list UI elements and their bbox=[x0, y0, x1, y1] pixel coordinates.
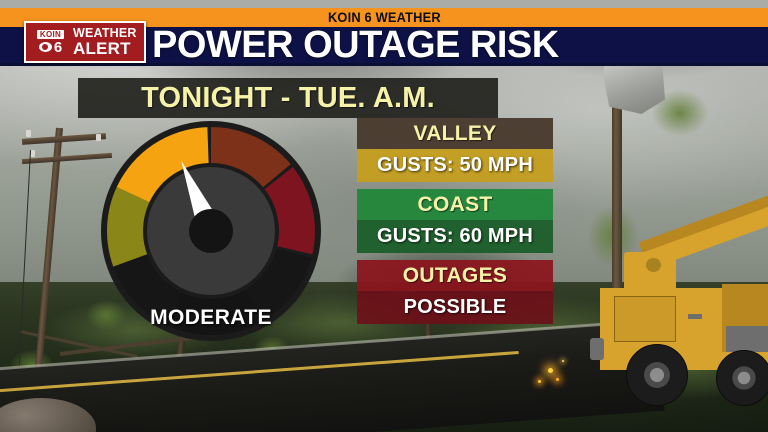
timeframe-title: TONIGHT - TUE. A.M. bbox=[141, 82, 435, 115]
channel-number: 6 bbox=[54, 40, 62, 55]
valley-panel-header: VALLEY bbox=[357, 118, 553, 149]
outages-panel-value: POSSIBLE bbox=[357, 291, 553, 324]
truck-outrigger bbox=[590, 338, 604, 360]
truck-wheel bbox=[626, 344, 688, 406]
electrical-spark bbox=[562, 360, 564, 362]
electrical-spark bbox=[538, 380, 541, 383]
page-title: POWER OUTAGE RISK bbox=[152, 24, 559, 66]
weather-graphic-stage: KOIN 6 WEATHER POWER OUTAGE RISK KOIN 6 … bbox=[0, 0, 768, 432]
top-edge-strip bbox=[0, 0, 768, 8]
timeframe-title-bar: TONIGHT - TUE. A.M. bbox=[78, 78, 498, 118]
risk-gauge: MODERATE bbox=[98, 118, 324, 344]
electrical-spark bbox=[556, 378, 559, 381]
electrical-spark bbox=[548, 368, 553, 373]
boom-joint bbox=[646, 258, 661, 272]
koin-six-row: 6 bbox=[39, 40, 62, 55]
forecast-panels: VALLEY GUSTS: 50 MPH COAST GUSTS: 60 MPH… bbox=[357, 118, 553, 331]
weather-alert-wordmark: WEATHER ALERT bbox=[73, 27, 144, 57]
koin-wordmark: KOIN bbox=[37, 30, 64, 39]
coast-panel-header: COAST bbox=[357, 189, 553, 220]
cbs-eye-icon bbox=[39, 42, 52, 52]
truck-side-panel bbox=[614, 296, 676, 342]
coast-panel: COAST GUSTS: 60 MPH bbox=[357, 189, 553, 253]
outages-panel: OUTAGES POSSIBLE bbox=[357, 260, 553, 324]
koin-weather-alert-logo: KOIN 6 WEATHER ALERT bbox=[24, 21, 146, 63]
outages-panel-header: OUTAGES bbox=[357, 260, 553, 291]
truck-latch bbox=[688, 314, 702, 319]
valley-panel: VALLEY GUSTS: 50 MPH bbox=[357, 118, 553, 182]
truck-wheel bbox=[716, 350, 768, 406]
valley-panel-value: GUSTS: 50 MPH bbox=[357, 149, 553, 182]
risk-level-label: MODERATE bbox=[98, 306, 324, 330]
utility-bucket-truck bbox=[600, 228, 768, 403]
pole-insulator bbox=[26, 130, 31, 137]
koin-channel-mark: KOIN 6 bbox=[26, 23, 73, 61]
logo-line-alert: ALERT bbox=[73, 40, 140, 57]
gauge-hub bbox=[189, 209, 233, 253]
coast-panel-value: GUSTS: 60 MPH bbox=[357, 220, 553, 253]
